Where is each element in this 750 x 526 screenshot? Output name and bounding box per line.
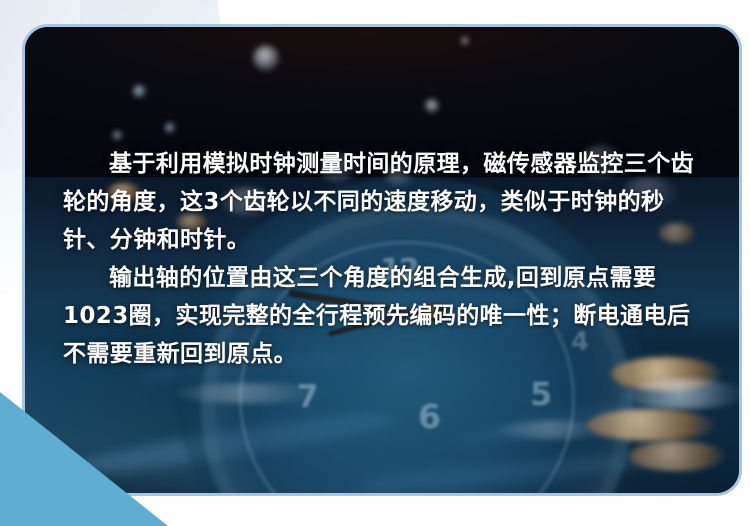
bokeh-light [113, 131, 122, 140]
clock-numeral: 5 [530, 375, 552, 413]
bokeh-light [625, 379, 739, 409]
bokeh-light [165, 123, 175, 133]
bokeh-light [253, 45, 279, 71]
caption-block: 基于利用模拟时钟测量时间的原理，磁传感器监控三个齿轮的角度，这3个齿轮以不同的速… [63, 145, 707, 373]
bokeh-light [629, 441, 725, 471]
bokeh-light [425, 99, 439, 113]
photo-card: 12 1 4 5 6 7 [22, 24, 742, 496]
clock-numeral: 6 [418, 397, 441, 436]
slide-canvas: 12 1 4 5 6 7 [0, 0, 750, 526]
caption-paragraph-1: 基于利用模拟时钟测量时间的原理，磁传感器监控三个齿轮的角度，这3个齿轮以不同的速… [63, 145, 707, 259]
bokeh-light [133, 85, 146, 98]
caption-paragraph-2: 输出轴的位置由这三个角度的组合生成,回到原点需要1023圈，实现完整的全行程预先… [63, 259, 707, 373]
bokeh-light [461, 37, 469, 45]
bokeh-light [495, 421, 615, 439]
bokeh-light [175, 383, 325, 403]
